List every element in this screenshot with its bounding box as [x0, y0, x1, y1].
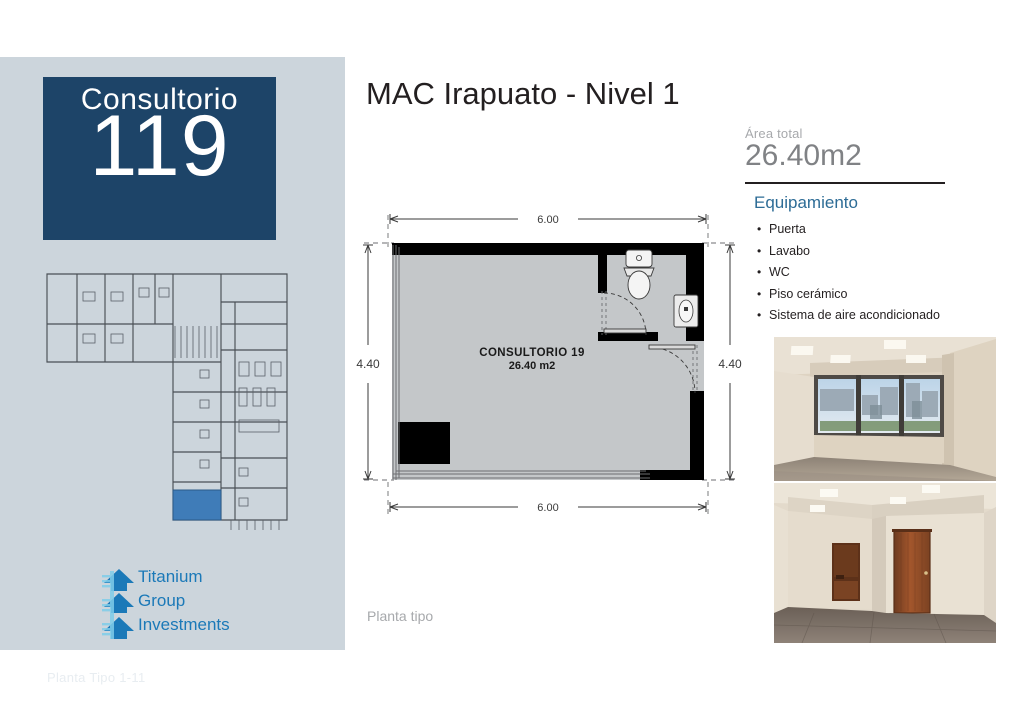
highlighted-unit — [173, 490, 221, 520]
mini-key-plan-caption: Planta Tipo 1-11 — [47, 670, 146, 685]
list-item: Sistema de aire acondicionado — [745, 305, 1005, 327]
list-item: WC — [745, 262, 1005, 284]
page-title: MAC Irapuato - Nivel 1 — [366, 76, 680, 112]
dimension-left: 4.40 — [356, 357, 380, 371]
panel-divider — [745, 182, 945, 184]
list-item: Piso cerámico — [745, 284, 1005, 306]
floor-plan[interactable]: 6.00 6.00 4.40 4.40 — [350, 195, 750, 530]
info-panel: Área total 26.40m2 Equipamiento Puerta L… — [745, 126, 1005, 327]
room-label: CONSULTORIO 19 — [479, 347, 585, 359]
list-item: Lavabo — [745, 241, 1005, 263]
equipment-title: Equipamiento — [754, 193, 1005, 213]
left-sidebar: Consultorio 119 — [0, 57, 345, 650]
room-area-label: 26.40 m2 — [509, 360, 555, 372]
interior-photo-window-view-image — [774, 337, 996, 481]
logo-line-titanium: Titanium — [138, 565, 230, 589]
interior-photo-wooden-door[interactable] — [774, 483, 996, 643]
interior-photo-window-view[interactable] — [774, 337, 996, 481]
floor-plan-drawing: 6.00 6.00 4.40 4.40 — [350, 195, 750, 530]
dimension-bottom: 6.00 — [537, 502, 558, 514]
list-item: Puerta — [745, 219, 1005, 241]
equipment-list: Puerta Lavabo WC Piso cerámico Sistema d… — [745, 219, 1005, 327]
mini-key-plan[interactable]: Planta Tipo 1-11 — [25, 262, 315, 532]
mini-key-plan-drawing — [25, 262, 315, 532]
lavabo-fixture — [674, 295, 698, 327]
area-total-value: 26.40m2 — [745, 139, 1005, 173]
interior-photo-wooden-door-image — [774, 483, 996, 643]
floor-plan-caption: Planta tipo — [367, 608, 433, 624]
unit-badge: Consultorio 119 — [43, 77, 276, 240]
logo-chevron-icon — [100, 567, 138, 641]
unit-badge-number: 119 — [43, 103, 276, 189]
dimension-right: 4.40 — [718, 357, 742, 371]
logo-line-group: Group — [138, 589, 230, 613]
dimension-top: 6.00 — [537, 214, 558, 226]
logo-line-investments: Investments — [138, 613, 230, 637]
titanium-group-logo: Titanium Group Investments — [100, 565, 240, 643]
